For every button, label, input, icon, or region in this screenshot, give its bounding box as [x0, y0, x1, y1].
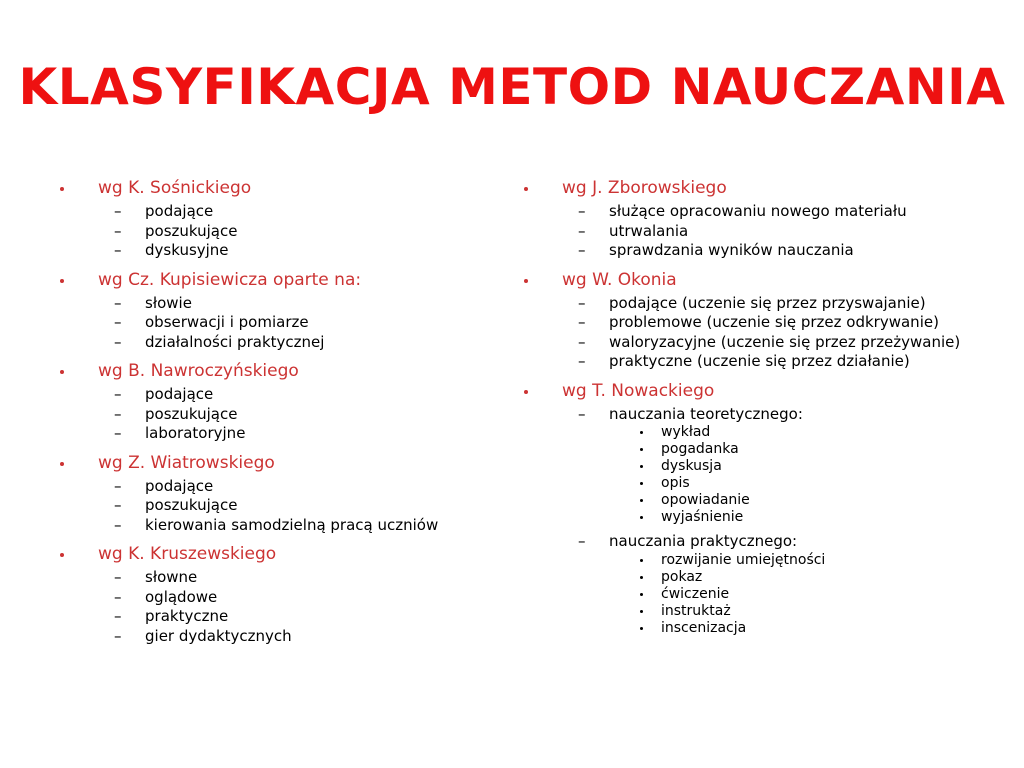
dash-marker-icon: –: [114, 496, 127, 516]
list-item[interactable]: –sprawdzania wyników nauczania: [516, 241, 986, 261]
list-item[interactable]: –kierowania samodzielną pracą uczniów: [52, 516, 512, 536]
sub-list-item[interactable]: opowiadanie: [516, 492, 986, 509]
sub-list-item[interactable]: pogadanka: [516, 441, 986, 458]
sub-list: –słowne–oglądowe–praktyczne–gier dydakty…: [52, 568, 512, 646]
outline-group: wg T. Nowackiego–nauczania teoretycznego…: [516, 379, 986, 637]
group-heading-label: wg J. Zborowskiego: [562, 178, 727, 198]
list-item-label: podające: [145, 477, 213, 495]
dash-marker-icon: –: [114, 222, 127, 242]
list-item[interactable]: –podające: [52, 202, 512, 222]
list-item[interactable]: –problemowe (uczenie się przez odkrywani…: [516, 313, 986, 333]
dash-marker-icon: –: [578, 352, 591, 372]
round-bullet-icon: [524, 279, 528, 283]
list-item-label: nauczania teoretycznego:: [609, 405, 803, 423]
dash-marker-icon: –: [114, 333, 127, 353]
sub-list: –podające–poszukujące–laboratoryjne: [52, 385, 512, 444]
outline-group: wg B. Nawroczyńskiego–podające–poszukują…: [52, 359, 512, 444]
list-item[interactable]: –podające: [52, 477, 512, 497]
outline-group: wg Cz. Kupisiewicza oparte na:–słowie–ob…: [52, 268, 512, 353]
round-bullet-small-icon: [640, 482, 643, 485]
dash-marker-icon: –: [114, 241, 127, 261]
round-bullet-small-icon: [640, 516, 643, 519]
sub-list-item-label: inscenizacja: [661, 620, 746, 636]
round-bullet-small-icon: [640, 593, 643, 596]
list-item[interactable]: –dyskusyjne: [52, 241, 512, 261]
group-heading[interactable]: wg K. Kruszewskiego: [52, 542, 512, 567]
list-item-label: problemowe (uczenie się przez odkrywanie…: [609, 313, 939, 331]
dash-marker-icon: –: [114, 202, 127, 222]
outline-group: wg J. Zborowskiego–służące opracowaniu n…: [516, 176, 986, 261]
round-bullet-icon: [60, 279, 64, 283]
list-item-label: dyskusyjne: [145, 241, 229, 259]
dash-marker-icon: –: [114, 424, 127, 444]
round-bullet-icon: [60, 370, 64, 374]
sub-list-item-label: pokaz: [661, 569, 702, 585]
dash-marker-icon: –: [114, 627, 127, 647]
dash-marker-icon: –: [114, 588, 127, 608]
list-item-label: kierowania samodzielną pracą uczniów: [145, 516, 438, 534]
sub-list: –podające–poszukujące–kierowania samodzi…: [52, 477, 512, 536]
outline-group: wg Z. Wiatrowskiego–podające–poszukujące…: [52, 451, 512, 536]
list-item-label: służące opracowaniu nowego materiału: [609, 202, 907, 220]
list-item[interactable]: –laboratoryjne: [52, 424, 512, 444]
dash-marker-icon: –: [578, 313, 591, 333]
list-item-label: gier dydaktycznych: [145, 627, 292, 645]
dash-marker-icon: –: [114, 385, 127, 405]
list-item[interactable]: –służące opracowaniu nowego materiału: [516, 202, 986, 222]
round-bullet-small-icon: [640, 559, 643, 562]
dash-marker-icon: –: [578, 241, 591, 261]
outline-group: wg K. Kruszewskiego–słowne–oglądowe–prak…: [52, 542, 512, 646]
list-item[interactable]: –słowne: [52, 568, 512, 588]
list-item[interactable]: –praktyczne (uczenie się przez działanie…: [516, 352, 986, 372]
group-heading-label: wg Z. Wiatrowskiego: [98, 453, 275, 473]
list-item[interactable]: –nauczania praktycznego:: [516, 532, 986, 552]
dash-marker-icon: –: [578, 333, 591, 353]
dash-marker-icon: –: [578, 294, 591, 314]
list-item-label: waloryzacyjne (uczenie się przez przeżyw…: [609, 333, 960, 351]
slide: KLASYFIKACJA METOD NAUCZANIA wg K. Sośni…: [0, 0, 1024, 768]
group-heading[interactable]: wg Z. Wiatrowskiego: [52, 451, 512, 476]
group-heading-label: wg B. Nawroczyńskiego: [98, 361, 299, 381]
round-bullet-small-icon: [640, 576, 643, 579]
sub-list-item[interactable]: wyjaśnienie: [516, 509, 986, 526]
sub-list-item-label: instruktaż: [661, 603, 731, 619]
group-heading-label: wg K. Sośnickiego: [98, 178, 251, 198]
round-bullet-icon: [60, 462, 64, 466]
list-item-label: poszukujące: [145, 405, 237, 423]
list-item[interactable]: –waloryzacyjne (uczenie się przez przeży…: [516, 333, 986, 353]
round-bullet-small-icon: [640, 465, 643, 468]
sub-list-item-label: dyskusja: [661, 458, 722, 474]
list-item-label: praktyczne: [145, 607, 228, 625]
page-title: KLASYFIKACJA METOD NAUCZANIA: [0, 58, 1024, 116]
dash-marker-icon: –: [114, 568, 127, 588]
sub-list-item-label: ćwiczenie: [661, 586, 729, 602]
dash-marker-icon: –: [578, 202, 591, 222]
list-item-label: nauczania praktycznego:: [609, 532, 797, 550]
list-item[interactable]: –obserwacji i pomiarze: [52, 313, 512, 333]
group-heading[interactable]: wg Cz. Kupisiewicza oparte na:: [52, 268, 512, 293]
sub-list-item[interactable]: instruktaż: [516, 603, 986, 620]
list-item-label: obserwacji i pomiarze: [145, 313, 309, 331]
list-item[interactable]: –działalności praktycznej: [52, 333, 512, 353]
list-item-label: podające (uczenie się przez przyswajanie…: [609, 294, 926, 312]
round-bullet-icon: [60, 553, 64, 557]
sub-list-item[interactable]: ćwiczenie: [516, 586, 986, 603]
sub-list-item[interactable]: dyskusja: [516, 458, 986, 475]
list-item-label: sprawdzania wyników nauczania: [609, 241, 854, 259]
list-item[interactable]: –poszukujące: [52, 222, 512, 242]
group-heading-label: wg W. Okonia: [562, 270, 677, 290]
round-bullet-icon: [524, 390, 528, 394]
group-heading[interactable]: wg J. Zborowskiego: [516, 176, 986, 201]
list-item-label: podające: [145, 202, 213, 220]
dash-marker-icon: –: [114, 294, 127, 314]
group-heading[interactable]: wg W. Okonia: [516, 268, 986, 293]
list-item-label: praktyczne (uczenie się przez działanie): [609, 352, 910, 370]
list-item[interactable]: –poszukujące: [52, 496, 512, 516]
outline-group: wg K. Sośnickiego–podające–poszukujące–d…: [52, 176, 512, 261]
dash-marker-icon: –: [114, 516, 127, 536]
round-bullet-small-icon: [640, 448, 643, 451]
sub-list: –służące opracowaniu nowego materiału–ut…: [516, 202, 986, 261]
sub-list-item[interactable]: inscenizacja: [516, 620, 986, 637]
list-item[interactable]: –poszukujące: [52, 405, 512, 425]
group-heading[interactable]: wg B. Nawroczyńskiego: [52, 359, 512, 384]
right-column: wg J. Zborowskiego–służące opracowaniu n…: [516, 176, 986, 637]
list-item[interactable]: –oglądowe: [52, 588, 512, 608]
group-heading[interactable]: wg T. Nowackiego: [516, 379, 986, 404]
list-item[interactable]: –słowie: [52, 294, 512, 314]
list-item[interactable]: –praktyczne: [52, 607, 512, 627]
round-bullet-icon: [524, 187, 528, 191]
round-bullet-small-icon: [640, 499, 643, 502]
sub-list: –nauczania teoretycznego:wykładpogadanka…: [516, 405, 986, 637]
sub-list-item[interactable]: pokaz: [516, 569, 986, 586]
round-bullet-small-icon: [640, 627, 643, 630]
sub-list: –słowie–obserwacji i pomiarze–działalnoś…: [52, 294, 512, 353]
sub-list: –podające–poszukujące–dyskusyjne: [52, 202, 512, 261]
sub-sub-list: rozwijanie umiejętnościpokazćwiczenieins…: [516, 552, 986, 637]
left-column: wg K. Sośnickiego–podające–poszukujące–d…: [52, 176, 512, 646]
round-bullet-icon: [60, 187, 64, 191]
outline-group: wg W. Okonia–podające (uczenie się przez…: [516, 268, 986, 372]
sub-list-item[interactable]: wykład: [516, 424, 986, 441]
list-item-label: oglądowe: [145, 588, 217, 606]
list-item[interactable]: –podające (uczenie się przez przyswajani…: [516, 294, 986, 314]
sub-list-item-label: opowiadanie: [661, 492, 750, 508]
round-bullet-small-icon: [640, 610, 643, 613]
group-heading-label: wg K. Kruszewskiego: [98, 544, 276, 564]
sub-list-item-label: wyjaśnienie: [661, 509, 743, 525]
list-item[interactable]: –gier dydaktycznych: [52, 627, 512, 647]
dash-marker-icon: –: [114, 313, 127, 333]
dash-marker-icon: –: [114, 607, 127, 627]
list-item-label: utrwalania: [609, 222, 688, 240]
sub-list-item-label: rozwijanie umiejętności: [661, 552, 825, 568]
sub-list-item-label: wykład: [661, 424, 710, 440]
list-item-label: poszukujące: [145, 496, 237, 514]
dash-marker-icon: –: [114, 405, 127, 425]
sub-list-item-label: pogadanka: [661, 441, 739, 457]
sub-list-item-label: opis: [661, 475, 690, 491]
list-item-label: słowne: [145, 568, 197, 586]
dash-marker-icon: –: [114, 477, 127, 497]
sub-list-item[interactable]: rozwijanie umiejętności: [516, 552, 986, 569]
dash-marker-icon: –: [578, 405, 591, 425]
sub-list: –podające (uczenie się przez przyswajani…: [516, 294, 986, 372]
list-item-label: działalności praktycznej: [145, 333, 324, 351]
list-item-label: słowie: [145, 294, 192, 312]
list-item-label: poszukujące: [145, 222, 237, 240]
round-bullet-small-icon: [640, 431, 643, 434]
list-item[interactable]: –nauczania teoretycznego:: [516, 405, 986, 425]
dash-marker-icon: –: [578, 222, 591, 242]
dash-marker-icon: –: [578, 532, 591, 552]
group-heading[interactable]: wg K. Sośnickiego: [52, 176, 512, 201]
list-item[interactable]: –utrwalania: [516, 222, 986, 242]
list-item-label: laboratoryjne: [145, 424, 245, 442]
sub-list-item[interactable]: opis: [516, 475, 986, 492]
list-item-label: podające: [145, 385, 213, 403]
group-heading-label: wg T. Nowackiego: [562, 381, 714, 401]
list-item[interactable]: –podające: [52, 385, 512, 405]
group-heading-label: wg Cz. Kupisiewicza oparte na:: [98, 270, 361, 290]
sub-sub-list: wykładpogadankadyskusjaopisopowiadaniewy…: [516, 424, 986, 526]
